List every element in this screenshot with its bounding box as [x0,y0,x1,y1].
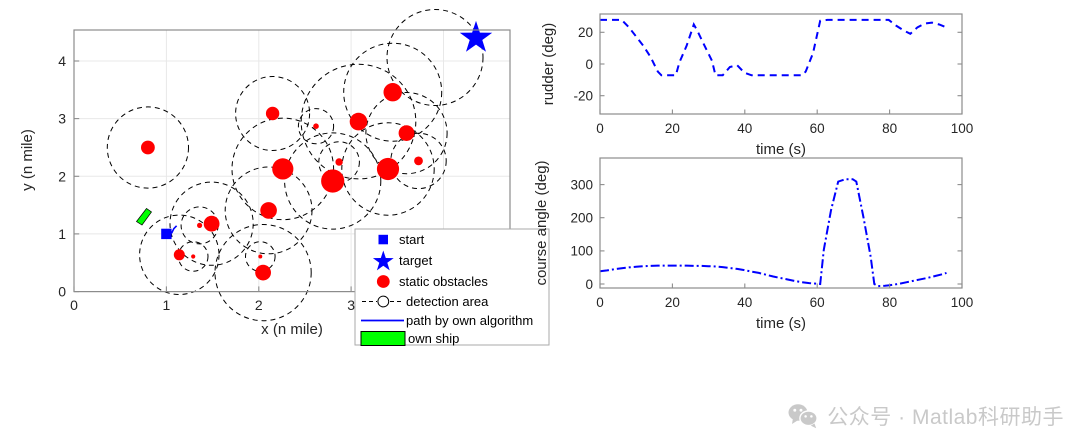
course-xtick-2: 40 [737,295,752,310]
course-ytick-1: 100 [570,244,593,259]
start-marker [161,229,171,239]
wechat-icon [788,403,818,429]
map-ytick-4: 4 [58,53,66,69]
static-obstacle [197,223,202,228]
rudder-ytick-1: 0 [585,57,593,72]
legend-item-detection-area[interactable]: detection area [362,294,489,309]
rudder-xtick-4: 80 [882,121,897,136]
legend-patch-icon [361,332,405,346]
course-ytick-0: 0 [585,277,593,292]
course-xtick-3: 60 [810,295,825,310]
static-obstacle [272,158,293,179]
map-y-axis-label: y (n mile) [19,129,36,191]
course-xtick-5: 100 [951,295,974,310]
course-xtick-4: 80 [882,295,897,310]
map-ytick-3: 3 [58,111,66,127]
map-x-axis-label: x (n mile) [261,321,323,338]
static-obstacle [313,123,319,129]
course-ytick-2: 200 [570,211,593,226]
rudder-y-axis-label: rudder (deg) [540,23,557,106]
map-xtick-2: 2 [255,297,263,313]
course-xtick-0: 0 [596,295,604,310]
watermark-text: 公众号 · Matlab科研助手 [827,401,1064,431]
rudder-xtick-5: 100 [951,121,974,136]
static-obstacle [255,265,271,281]
legend-detection-circle-icon [378,296,389,307]
rudder-xtick-0: 0 [596,121,604,136]
rudder-ytick-0: -20 [573,89,593,104]
map-xtick-1: 1 [163,297,171,313]
legend-label-own-ship: own ship [408,331,459,346]
rudder-ytick-2: 20 [578,25,593,40]
static-obstacle [384,83,402,101]
map-ytick-0: 0 [58,284,66,300]
static-obstacle [141,141,155,155]
static-obstacle [399,125,415,141]
legend-label-path: path by own algorithm [406,313,533,328]
static-obstacle [191,254,195,258]
legend-label-start: start [399,232,425,247]
course-y-axis-label: course angle (deg) [533,160,550,285]
static-obstacle [335,158,342,165]
static-obstacle [258,255,262,259]
static-obstacle [174,249,185,260]
static-obstacle [321,169,344,192]
legend-label-static-obstacles: static obstacles [399,274,488,289]
legend-item-own-ship[interactable]: own ship [361,331,459,346]
legend-label-target: target [399,253,433,268]
map-legend[interactable]: start target static obstacles detection … [355,229,549,346]
static-obstacle [266,107,279,120]
legend-square-icon [379,235,389,245]
course-xtick-1: 20 [665,295,680,310]
map-xtick-3: 3 [347,297,355,313]
legend-label-detection-area: detection area [406,294,489,309]
static-obstacle [260,202,277,219]
static-obstacle [377,158,399,180]
course-x-axis-label: time (s) [756,315,806,332]
rudder-xtick-3: 60 [810,121,825,136]
rudder-xtick-1: 20 [665,121,680,136]
static-obstacle [350,113,368,131]
rudder-xtick-2: 40 [737,121,752,136]
map-ytick-2: 2 [58,168,66,184]
map-ytick-1: 1 [58,226,66,242]
course-ytick-3: 300 [570,177,593,192]
static-obstacle [204,216,220,232]
matlab-figure: 0 1 2 3 4 0 1 2 3 4 x (n mile) y (n mile… [0,0,1080,443]
figure-canvas: 0 1 2 3 4 0 1 2 3 4 x (n mile) y (n mile… [0,0,1080,443]
watermark: 公众号 · Matlab科研助手 [788,401,1064,431]
rudder-x-axis-label: time (s) [756,141,806,158]
static-obstacle [414,157,423,166]
legend-circle-icon [377,275,390,288]
map-xtick-0: 0 [70,297,78,313]
